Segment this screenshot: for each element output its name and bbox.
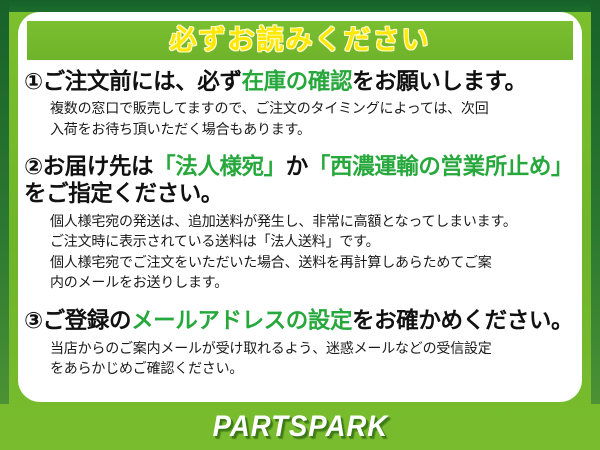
section-2-body-line-4: 内のメールをお送りします。 [50, 272, 578, 292]
notice-banner: 必ずお読みください ①ご注文前には、必ず在庫の確認をお願いします。 複数の窓口で… [0, 0, 600, 450]
section-1-heading: ①ご注文前には、必ず在庫の確認をお願いします。 [22, 68, 578, 95]
frame-border-top [0, 0, 600, 12]
section-2-body-line-1: 個人様宅宛の発送は、追加送料が発生し、非常に高額となってしまいます。 [50, 211, 578, 231]
section-1-heading-part-3: をお願いします。 [352, 69, 527, 94]
section-3-heading: ③ご登録のメールアドレスの設定をお確かめください。 [22, 307, 578, 334]
section-2-body: 個人様宅宛の発送は、追加送料が発生し、非常に高額となってしまいます。 ご注文時に… [22, 211, 578, 292]
section-2-heading-part-1: お届け先は [43, 154, 154, 179]
section-2-heading-part-3: か [286, 154, 308, 179]
header-title: 必ずお読みください [170, 27, 431, 54]
notice-section-3: ③ご登録のメールアドレスの設定をお確かめください。 当店からのご案内メールが受け… [22, 307, 578, 378]
section-3-body: 当店からのご案内メールが受け取れるよう、迷惑メールなどの受信設定 をあらかじめご… [22, 338, 578, 379]
frame-border-right [591, 0, 600, 404]
section-3-body-line-2: をあらかじめご確認ください。 [50, 358, 578, 378]
section-3-heading-part-3: をお確かめください。 [352, 308, 573, 333]
section-2-heading: ②お届け先は「法人様宛」か「西濃運輸の営業所止め」をご指定ください。 [22, 153, 578, 208]
notice-body: ①ご注文前には、必ず在庫の確認をお願いします。 複数の窓口で販売してますので、ご… [22, 66, 578, 379]
section-1-heading-highlight: 在庫の確認 [242, 69, 353, 94]
frame-border-left [0, 0, 9, 404]
notice-section-2: ②お届け先は「法人様宛」か「西濃運輸の営業所止め」をご指定ください。 個人様宅宛… [22, 153, 578, 292]
section-2-number: ② [24, 154, 43, 179]
section-2-heading-highlight-2: 「西濃運輸の営業所止め」 [308, 154, 573, 179]
section-3-number: ③ [24, 308, 43, 333]
section-2-heading-part-5: をご指定ください。 [24, 181, 223, 206]
section-1-body-line-2: 入荷をお待ち頂いただく場合もあります。 [50, 119, 578, 139]
section-1-body: 複数の窓口で販売してますので、ご注文のタイミングによっては、次回 入荷をお待ち頂… [22, 98, 578, 139]
section-2-body-line-3: 個人様宅宛でご注文をいただいた場合、送料を再計算しあらためてご案 [50, 252, 578, 272]
notice-section-1: ①ご注文前には、必ず在庫の確認をお願いします。 複数の窓口で販売してますので、ご… [22, 68, 578, 139]
section-1-heading-part-1: ご注文前には、必ず [43, 69, 242, 94]
section-2-heading-highlight-1: 「法人様宛」 [153, 154, 286, 179]
section-2-body-line-2: ご注文時に表示されている送料は「法人送料」です。 [50, 231, 578, 251]
header-bar: 必ずお読みください [27, 21, 573, 60]
section-3-heading-highlight: メールアドレスの設定 [131, 308, 352, 333]
section-1-number: ① [24, 69, 43, 94]
partspark-logo: PARTSPARK [212, 410, 387, 444]
footer-band: PARTSPARK [0, 404, 600, 450]
section-3-heading-part-1: ご登録の [43, 308, 131, 333]
section-1-body-line-1: 複数の窓口で販売してますので、ご注文のタイミングによっては、次回 [50, 98, 578, 118]
section-3-body-line-1: 当店からのご案内メールが受け取れるよう、迷惑メールなどの受信設定 [50, 338, 578, 358]
